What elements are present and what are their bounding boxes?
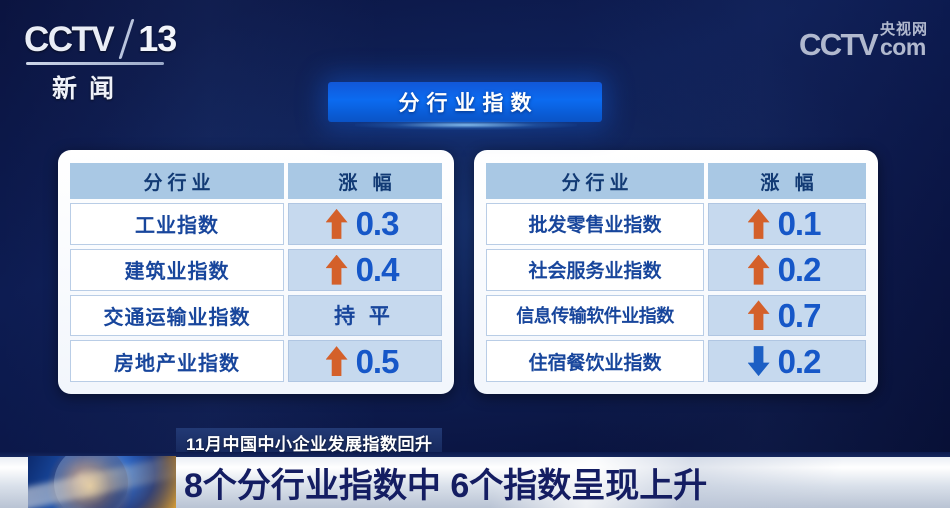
cctv-wordmark: CCTV	[24, 22, 113, 57]
header-category: 分行业	[486, 163, 704, 199]
arrow-up-icon	[748, 255, 770, 285]
row-label: 社会服务业指数	[486, 249, 704, 291]
table-header-row: 分行业 涨 幅	[70, 163, 442, 199]
header-category: 分行业	[70, 163, 284, 199]
row-label: 房地产业指数	[70, 340, 284, 382]
table-row: 房地产业指数 0.5	[70, 340, 442, 382]
row-value: 0.2	[708, 249, 866, 291]
cctv-com-watermark: CCTV 央视网 com	[799, 22, 928, 59]
row-value: 0.3	[288, 203, 442, 245]
row-label: 批发零售业指数	[486, 203, 704, 245]
logo-underline	[26, 62, 164, 65]
row-number: 0.1	[778, 207, 821, 240]
row-number: 0.7	[778, 299, 821, 332]
headline-text: 8个分行业指数中 6个指数呈现上升	[184, 458, 707, 507]
row-number: 0.4	[356, 253, 399, 286]
row-label: 建筑业指数	[70, 249, 284, 291]
table-row: 信息传输软件业指数 0.7	[486, 295, 866, 337]
watermark-wordmark: CCTV	[799, 30, 877, 59]
arrow-down-icon	[748, 346, 770, 376]
channel-logo: CCTV 13 新闻	[24, 18, 204, 90]
row-label: 交通运输业指数	[70, 295, 284, 337]
watermark-right-block: 央视网 com	[880, 22, 928, 59]
globe-graphic-icon	[28, 456, 176, 508]
header-change: 涨 幅	[288, 163, 442, 199]
row-value: 0.4	[288, 249, 442, 291]
row-value: 0.5	[288, 340, 442, 382]
row-number: 0.2	[778, 253, 821, 286]
table-row: 批发零售业指数 0.1	[486, 203, 866, 245]
row-value: 0.2	[708, 340, 866, 382]
table-row: 交通运输业指数 持 平	[70, 295, 442, 337]
arrow-up-icon	[748, 209, 770, 239]
row-number: 0.3	[356, 207, 399, 240]
row-value: 持 平	[288, 295, 442, 337]
channel-subtitle: 新闻	[24, 69, 204, 105]
channel-number: 13	[138, 21, 176, 57]
channel-logo-row: CCTV 13	[24, 18, 204, 60]
table-row: 建筑业指数 0.4	[70, 249, 442, 291]
industry-table-right: 分行业 涨 幅 批发零售业指数 0.1 社会服务业指数 0.2 信息传输软件业指…	[474, 150, 878, 394]
title-banner: 分行业指数	[328, 82, 602, 122]
watermark-com: com	[880, 36, 926, 59]
header-change: 涨 幅	[708, 163, 866, 199]
row-value: 0.7	[708, 295, 866, 337]
kicker-text: 11月中国中小企业发展指数回升	[186, 430, 432, 455]
row-label: 信息传输软件业指数	[486, 295, 704, 337]
arrow-up-icon	[326, 255, 348, 285]
arrow-up-icon	[326, 346, 348, 376]
row-value: 0.1	[708, 203, 866, 245]
row-label: 工业指数	[70, 203, 284, 245]
table-row: 工业指数 0.3	[70, 203, 442, 245]
arrow-up-icon	[748, 300, 770, 330]
table-row: 社会服务业指数 0.2	[486, 249, 866, 291]
industry-table-left: 分行业 涨 幅 工业指数 0.3 建筑业指数 0.4 交通运输业指数 持 平 房…	[58, 150, 454, 394]
lower-third-headline: 8个分行业指数中 6个指数呈现上升	[184, 456, 707, 508]
table-row: 住宿餐饮业指数 0.2	[486, 340, 866, 382]
logo-slash-icon	[117, 19, 137, 59]
row-number: 0.5	[356, 345, 399, 378]
row-label: 住宿餐饮业指数	[486, 340, 704, 382]
row-flat-label: 持 平	[330, 300, 394, 330]
table-header-row: 分行业 涨 幅	[486, 163, 866, 199]
arrow-up-icon	[326, 209, 348, 239]
title-banner-text: 分行业指数	[392, 87, 539, 117]
broadcast-screen: CCTV 13 新闻 CCTV 央视网 com 分行业指数 分行业 涨 幅 工业…	[0, 0, 950, 508]
row-number: 0.2	[778, 345, 821, 378]
